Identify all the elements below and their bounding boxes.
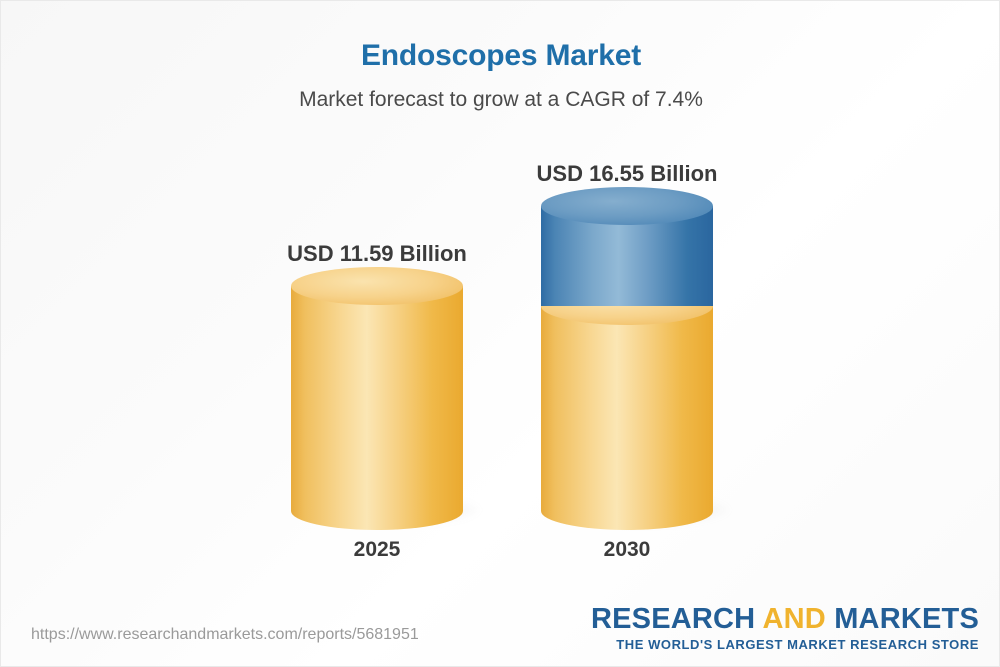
brand-tagline: THE WORLD'S LARGEST MARKET RESEARCH STOR…: [591, 637, 979, 652]
brand-word-research: RESEARCH: [591, 603, 755, 635]
cylinder-body: [541, 306, 713, 511]
cylinder-segment-base-2025: [291, 286, 463, 511]
cylinder-segment-growth-2030: [541, 206, 713, 306]
category-label-2030: 2030: [604, 538, 651, 562]
chart-footer: https://www.researchandmarkets.com/repor…: [1, 596, 1000, 666]
cylinder-top-ellipse: [291, 267, 463, 305]
cylinder-2030: [541, 206, 713, 511]
source-url[interactable]: https://www.researchandmarkets.com/repor…: [31, 626, 419, 644]
brand-logo: RESEARCH AND MARKETS THE WORLD'S LARGEST…: [591, 604, 979, 652]
brand-wordmark: RESEARCH AND MARKETS: [591, 604, 979, 634]
cylinder-top-ellipse: [541, 187, 713, 225]
cylinder-2025: [291, 286, 463, 511]
infographic-canvas: Endoscopes Market Market forecast to gro…: [0, 0, 1000, 667]
chart-plot-area: USD 11.59 Billion 2025 USD 16.55 Billion: [1, 1, 1000, 601]
brand-word-and: AND: [763, 603, 826, 635]
value-label-2030: USD 16.55 Billion: [537, 161, 718, 187]
cylinder-body: [291, 286, 463, 511]
value-label-2025: USD 11.59 Billion: [287, 241, 467, 267]
category-label-2025: 2025: [354, 538, 401, 562]
cylinder-segment-base-2030: [541, 306, 713, 511]
brand-word-markets: MARKETS: [834, 603, 979, 635]
